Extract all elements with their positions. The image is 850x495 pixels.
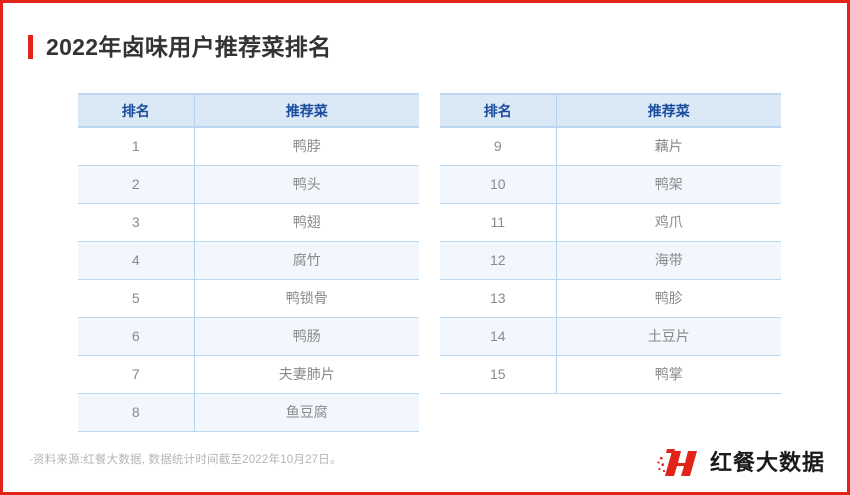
table-row: 12海带 (440, 241, 781, 279)
table-header-row: 排名 推荐菜 (78, 94, 419, 127)
column-header-dish: 推荐菜 (194, 94, 419, 127)
cell-rank: 12 (440, 241, 556, 279)
cell-dish: 藕片 (556, 127, 781, 165)
cell-rank: 9 (440, 127, 556, 165)
column-header-rank: 排名 (440, 94, 556, 127)
column-header-rank: 排名 (78, 94, 194, 127)
cell-rank: 8 (78, 393, 194, 431)
cell-dish: 鸡爪 (556, 203, 781, 241)
table-header-row: 排名 推荐菜 (440, 94, 781, 127)
table-row: 4腐竹 (78, 241, 419, 279)
brand-logo-text: 红餐大数据 (710, 452, 825, 474)
table-row: 3鸭翅 (78, 203, 419, 241)
table-row: 9藕片 (440, 127, 781, 165)
cell-rank: 5 (78, 279, 194, 317)
rank-table-left: 排名 推荐菜 1鸭脖2鸭头3鸭翅4腐竹5鸭锁骨6鸭肠7夫妻肺片8鱼豆腐 (78, 93, 419, 432)
title-accent-bar (28, 35, 33, 59)
table-row: 15鸭掌 (440, 355, 781, 393)
cell-rank: 13 (440, 279, 556, 317)
cell-rank: 4 (78, 241, 194, 279)
table-row: 2鸭头 (78, 165, 419, 203)
cell-dish: 土豆片 (556, 317, 781, 355)
table-row: 8鱼豆腐 (78, 393, 419, 431)
cell-dish: 鸭掌 (556, 355, 781, 393)
table-body-right: 9藕片10鸭架11鸡爪12海带13鸭胗14土豆片15鸭掌 (440, 127, 781, 393)
cell-rank: 11 (440, 203, 556, 241)
table-row: 11鸡爪 (440, 203, 781, 241)
table-row: 7夫妻肺片 (78, 355, 419, 393)
source-note: ·资料来源:红餐大数据, 数据统计时间截至2022年10月27日。 (29, 451, 342, 467)
cell-dish: 鸭脖 (194, 127, 419, 165)
cell-dish: 鸭锁骨 (194, 279, 419, 317)
table-row: 10鸭架 (440, 165, 781, 203)
cell-rank: 6 (78, 317, 194, 355)
cell-rank: 1 (78, 127, 194, 165)
cell-rank: 3 (78, 203, 194, 241)
table-header-right: 排名 推荐菜 (440, 94, 781, 127)
cell-rank: 14 (440, 317, 556, 355)
table-body-left: 1鸭脖2鸭头3鸭翅4腐竹5鸭锁骨6鸭肠7夫妻肺片8鱼豆腐 (78, 127, 419, 431)
cell-rank: 10 (440, 165, 556, 203)
cell-rank: 7 (78, 355, 194, 393)
cell-dish: 鸭头 (194, 165, 419, 203)
cell-rank: 2 (78, 165, 194, 203)
cell-dish: 鸭肠 (194, 317, 419, 355)
cell-rank: 15 (440, 355, 556, 393)
cell-dish: 海带 (556, 241, 781, 279)
cell-dish: 夫妻肺片 (194, 355, 419, 393)
hongcan-h-mark-icon (657, 448, 703, 478)
cell-dish: 鱼豆腐 (194, 393, 419, 431)
table-row: 1鸭脖 (78, 127, 419, 165)
table-row: 13鸭胗 (440, 279, 781, 317)
table-row: 6鸭肠 (78, 317, 419, 355)
table-row: 14土豆片 (440, 317, 781, 355)
table-header-left: 排名 推荐菜 (78, 94, 419, 127)
cell-dish: 鸭架 (556, 165, 781, 203)
cell-dish: 鸭翅 (194, 203, 419, 241)
column-header-dish: 推荐菜 (556, 94, 781, 127)
title-row: 2022年卤味用户推荐菜排名 (28, 32, 331, 62)
poster-frame: 2022年卤味用户推荐菜排名 排名 推荐菜 1鸭脖2鸭头3鸭翅4腐竹5鸭锁骨6鸭… (0, 0, 850, 495)
cell-dish: 鸭胗 (556, 279, 781, 317)
page-title: 2022年卤味用户推荐菜排名 (46, 36, 331, 59)
table-row: 5鸭锁骨 (78, 279, 419, 317)
rank-table-right: 排名 推荐菜 9藕片10鸭架11鸡爪12海带13鸭胗14土豆片15鸭掌 (440, 93, 781, 394)
cell-dish: 腐竹 (194, 241, 419, 279)
brand-logo: 红餐大数据 (657, 446, 825, 480)
